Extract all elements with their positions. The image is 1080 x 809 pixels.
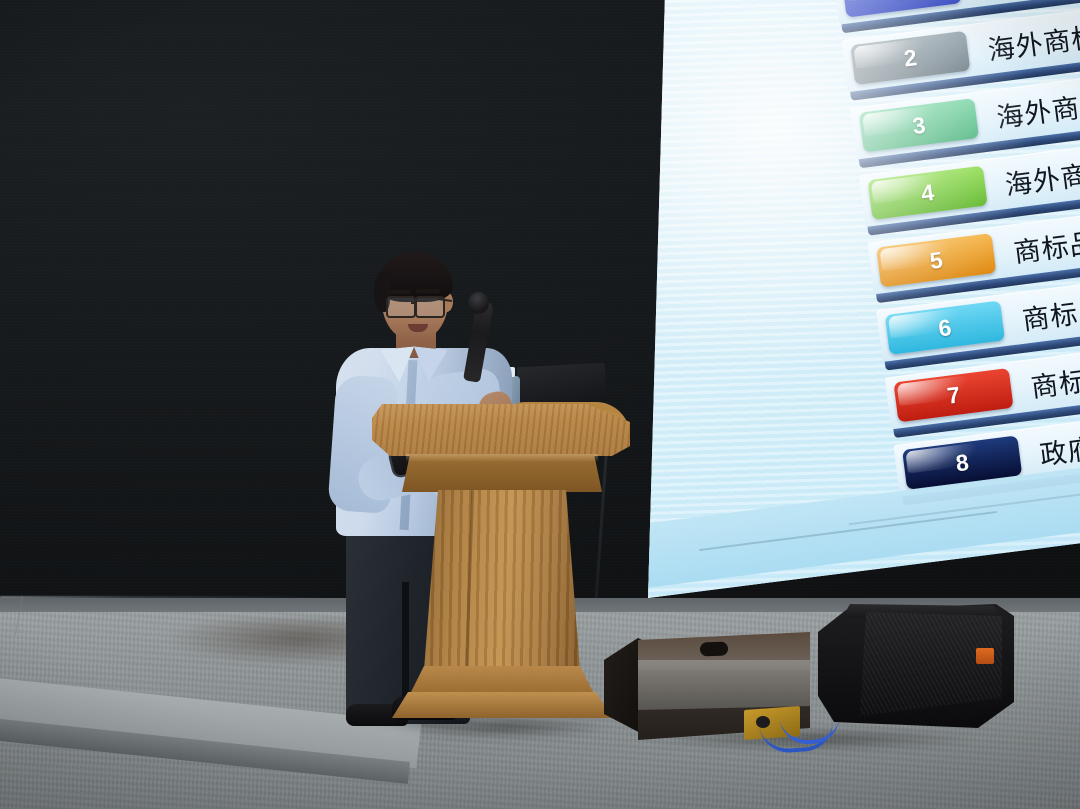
monitor-grille xyxy=(638,660,810,710)
row-number: 4 xyxy=(920,179,936,207)
podium-column-grain xyxy=(424,490,580,670)
row-number: 2 xyxy=(902,44,918,72)
podium-base xyxy=(392,692,612,718)
monitor-handle xyxy=(700,642,728,657)
projection-screen: 1 海外商标 2 海外商标 3 海外商标 xyxy=(638,0,1080,606)
brand-badge xyxy=(976,648,994,664)
podium-top-grain xyxy=(372,404,630,456)
podium-base-upper xyxy=(410,666,594,694)
row-number: 1 xyxy=(894,0,910,5)
row-number: 7 xyxy=(945,381,961,409)
row-number: 6 xyxy=(937,314,953,342)
row-number: 8 xyxy=(954,448,970,476)
stage-monitor-left xyxy=(604,612,826,744)
photo-scene: 1 海外商标 2 海外商标 3 海外商标 xyxy=(0,0,1080,809)
eyebrow-left xyxy=(387,290,411,294)
glasses-bridge xyxy=(411,302,417,304)
eyebrow-right xyxy=(416,289,440,293)
glasses-lens-left xyxy=(386,296,416,318)
podium-neck-highlight xyxy=(406,454,598,462)
row-number: 3 xyxy=(911,111,927,139)
monitor-grille xyxy=(860,612,1002,716)
row-number: 5 xyxy=(928,246,944,274)
wooden-podium xyxy=(372,396,630,730)
thin-wire xyxy=(15,596,72,644)
stage-monitor-right xyxy=(818,604,1014,740)
